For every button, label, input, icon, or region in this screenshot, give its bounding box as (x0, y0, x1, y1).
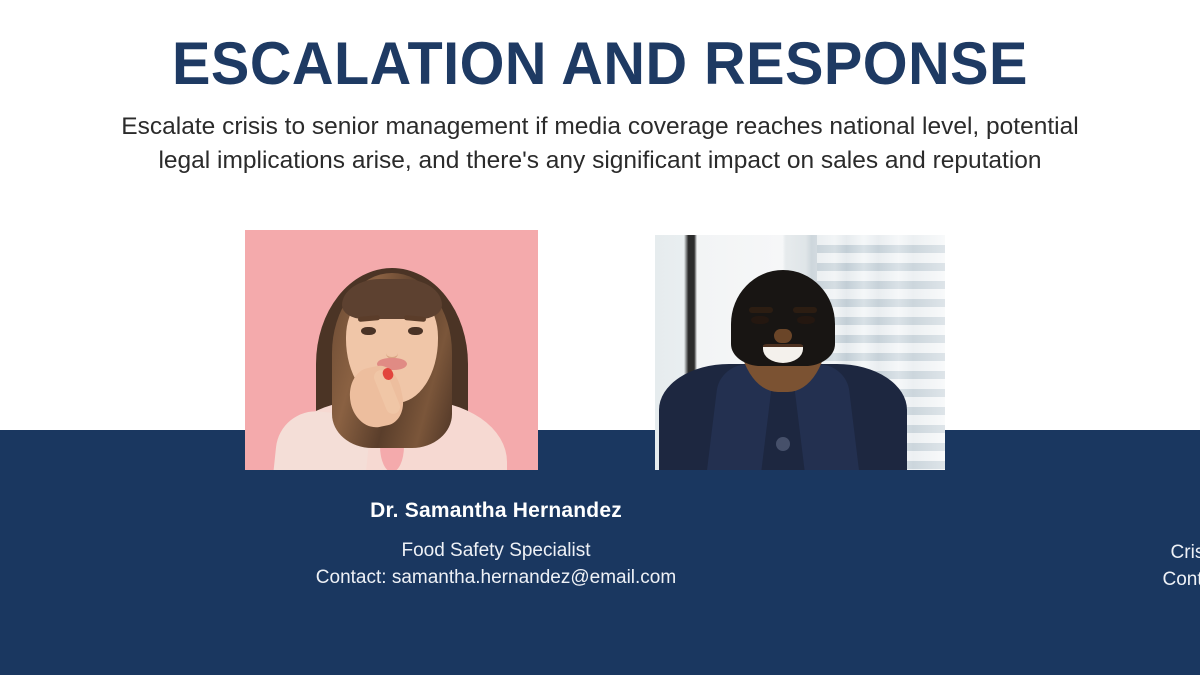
portrait-eyebrow-left (749, 307, 773, 313)
person-role: Crisis Communication Consultant (1111, 526, 1200, 566)
portrait-eye-left (361, 327, 376, 335)
portrait-eye-right (408, 327, 423, 335)
person-photo-2 (655, 235, 945, 470)
person-caption-1: Dr. Samantha Hernandez Food Safety Speci… (296, 498, 696, 591)
portrait-eye-right (797, 316, 815, 324)
person-role: Food Safety Specialist (296, 524, 696, 564)
people-row: Dr. Samantha Hernandez Food Safety Speci… (0, 0, 1200, 675)
presentation-slide: ESCALATION AND RESPONSE Escalate crisis … (0, 0, 1200, 675)
portrait-eye-left (751, 316, 769, 324)
portrait-nose (386, 343, 398, 359)
portrait-fringe (342, 279, 442, 319)
person-photo-1 (245, 230, 538, 470)
person-caption-2: Roger Crisis Communication Consultant Co… (1111, 500, 1200, 593)
person-name: Roger (1111, 500, 1200, 526)
person-name: Dr. Samantha Hernandez (296, 498, 696, 524)
portrait-cardigan-button (776, 437, 790, 451)
portrait-nose (774, 329, 792, 343)
portrait-eyebrow-right (793, 307, 817, 313)
person-contact[interactable]: Contact: samantha.hernandez@email.com (296, 564, 696, 591)
person-contact[interactable]: Contact: roger.eckman@email.com (1111, 566, 1200, 593)
person-card-2: Roger Crisis Communication Consultant Co… (506, 0, 1106, 235)
